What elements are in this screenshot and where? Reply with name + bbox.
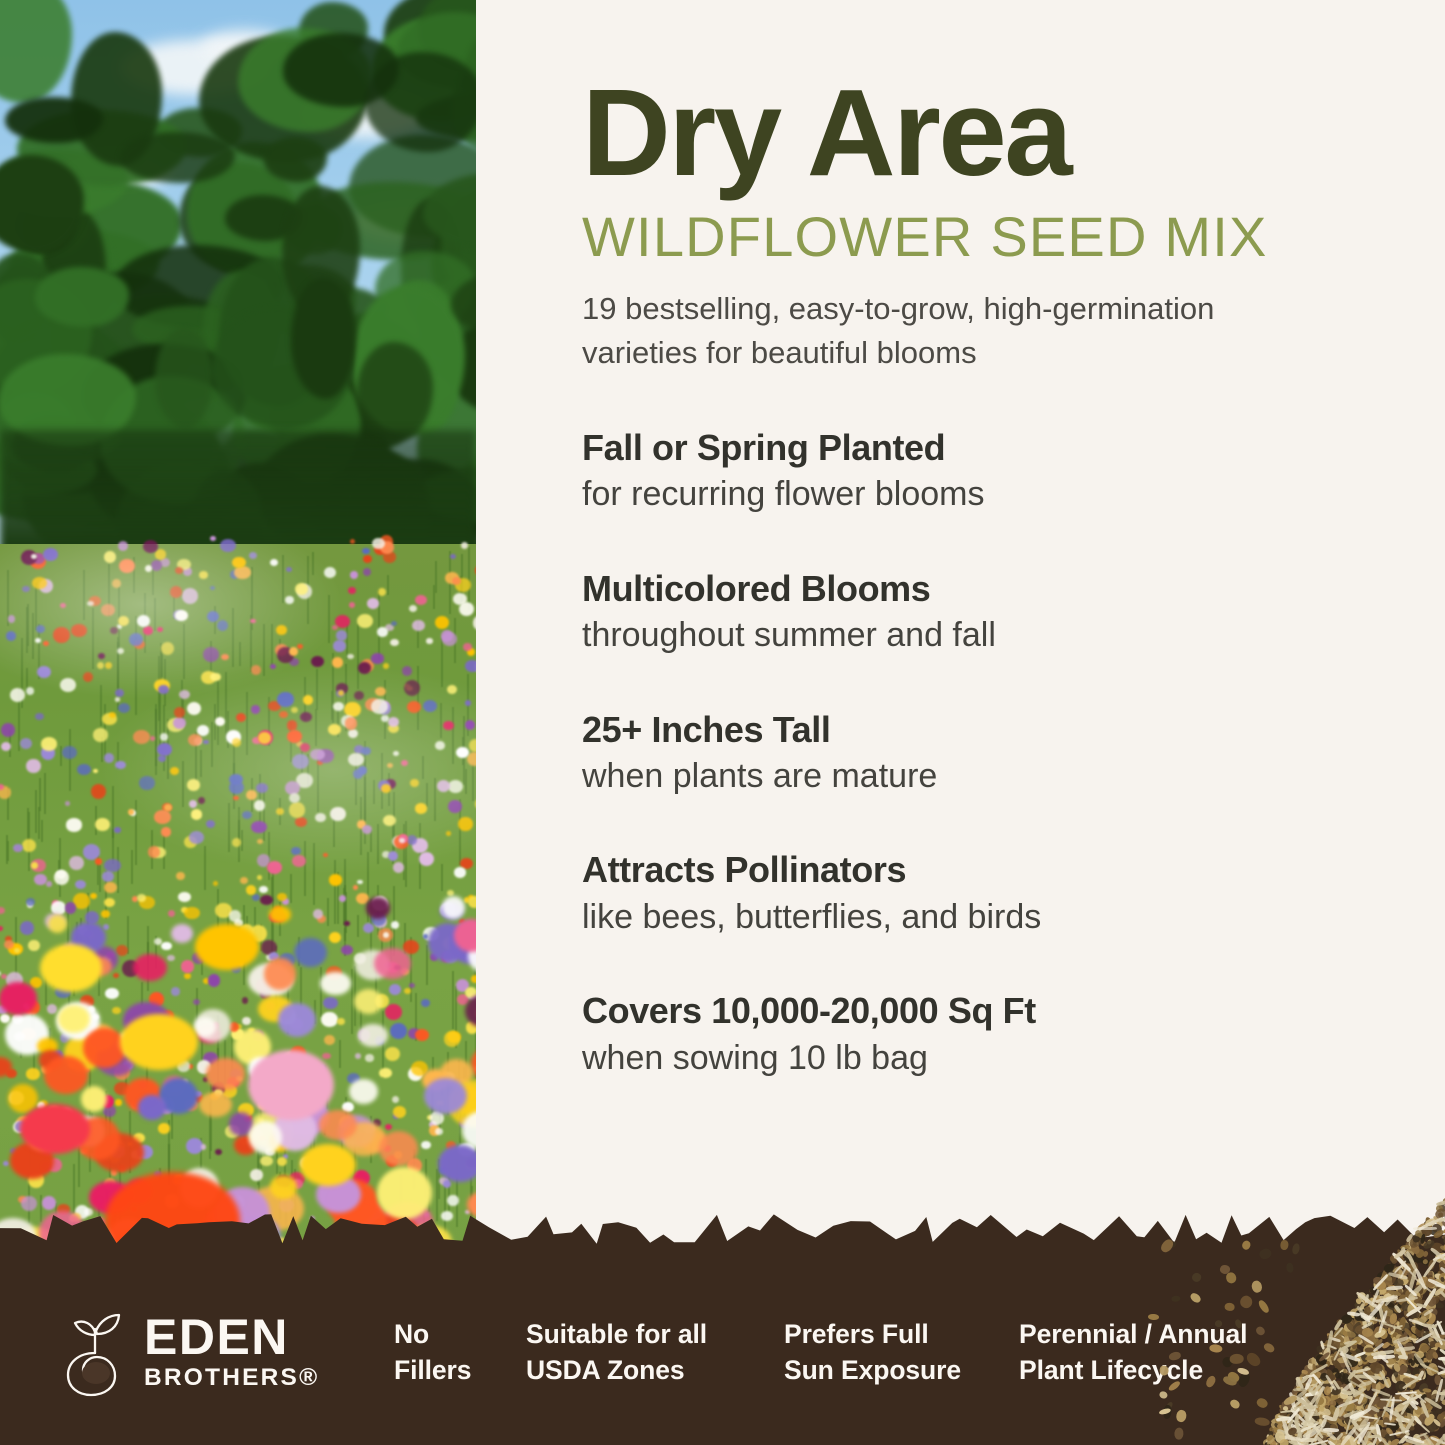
page-title: Dry Area	[582, 74, 1389, 195]
footer-bar: EDEN BROTHERS® No Fillers Suitable for a…	[0, 1260, 1445, 1445]
product-content-panel: Dry Area WILDFLOWER SEED MIX 19 bestsell…	[476, 0, 1445, 1296]
meadow-haze	[0, 544, 476, 1296]
feature-title: Attracts Pollinators	[582, 849, 1389, 891]
benefit-line-1: Prefers Full	[784, 1317, 999, 1353]
feature-subtitle: throughout summer and fall	[582, 614, 1389, 657]
footer-benefit-plant-lifecycle: Perennial / Annual Plant Lifecycle	[1019, 1317, 1289, 1388]
foliage	[155, 328, 213, 428]
foliage	[120, 132, 235, 183]
torn-soil-edge	[0, 1200, 1445, 1260]
brand-logo: EDEN BROTHERS®	[56, 1307, 356, 1399]
foliage	[0, 0, 72, 103]
foliage	[35, 267, 128, 326]
feature-item: Covers 10,000-20,000 Sq Ft when sowing 1…	[582, 990, 1389, 1079]
feature-title: Fall or Spring Planted	[582, 427, 1389, 469]
product-subtitle: WILDFLOWER SEED MIX	[582, 209, 1389, 265]
feature-item: Attracts Pollinators like bees, butterfl…	[582, 849, 1389, 938]
benefit-line-2: Sun Exposure	[784, 1353, 999, 1389]
foliage	[357, 342, 433, 441]
foliage	[291, 278, 356, 398]
benefit-line-1: Perennial / Annual	[1019, 1317, 1289, 1353]
foliage	[283, 33, 400, 107]
footer-benefit-no-fillers: No Fillers	[394, 1317, 504, 1388]
feature-subtitle: like bees, butterflies, and birds	[582, 896, 1389, 939]
benefit-line-1: No	[394, 1317, 504, 1353]
feature-item: Fall or Spring Planted for recurring flo…	[582, 427, 1389, 516]
brand-wordmark: EDEN BROTHERS®	[144, 1313, 319, 1392]
footer-benefit-usda-zones: Suitable for all USDA Zones	[526, 1317, 766, 1388]
benefit-line-2: Fillers	[394, 1353, 504, 1389]
brand-name-secondary: BROTHERS®	[144, 1364, 319, 1392]
feature-subtitle: when sowing 10 lb bag	[582, 1037, 1389, 1080]
feature-item: Multicolored Blooms throughout summer an…	[582, 568, 1389, 657]
feature-item: 25+ Inches Tall when plants are mature	[582, 709, 1389, 798]
brand-name-primary: EDEN	[144, 1309, 289, 1365]
feature-list: Fall or Spring Planted for recurring flo…	[582, 427, 1389, 1080]
footer-benefit-sun-exposure: Prefers Full Sun Exposure	[784, 1317, 999, 1388]
feature-title: Multicolored Blooms	[582, 568, 1389, 610]
foliage	[264, 137, 327, 182]
feature-subtitle: for recurring flower blooms	[582, 473, 1389, 516]
hero-photo-wildflower-meadow	[0, 0, 476, 1296]
product-description: 19 bestselling, easy-to-grow, high-germi…	[582, 287, 1322, 375]
benefit-line-2: Plant Lifecycle	[1019, 1353, 1289, 1389]
feature-title: 25+ Inches Tall	[582, 709, 1389, 751]
bloom	[210, 536, 215, 541]
feature-subtitle: when plants are mature	[582, 755, 1389, 798]
benefit-line-1: Suitable for all	[526, 1317, 766, 1353]
sprout-seed-icon	[56, 1307, 134, 1399]
product-infographic: Dry Area WILDFLOWER SEED MIX 19 bestsell…	[0, 0, 1445, 1445]
foliage	[5, 97, 103, 143]
feature-title: Covers 10,000-20,000 Sq Ft	[582, 990, 1389, 1032]
benefit-line-2: USDA Zones	[526, 1353, 766, 1389]
